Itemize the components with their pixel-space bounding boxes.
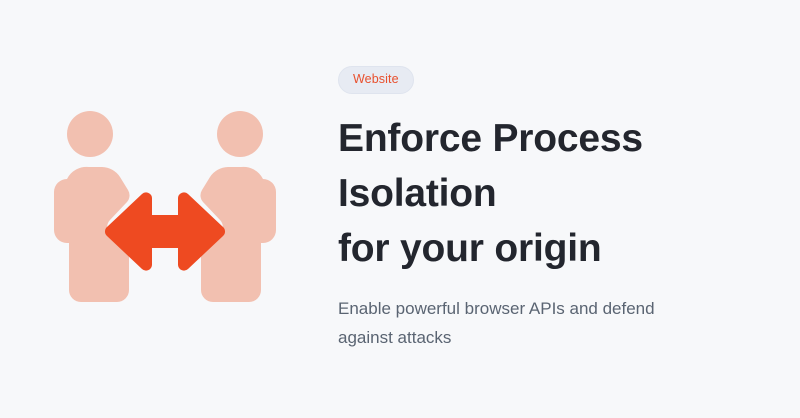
page-title: Enforce Process Isolation for your origi… [338,111,643,276]
person-right-icon [200,111,276,302]
hero-banner: Website Enforce Process Isolation for yo… [0,0,800,418]
page-subtitle: Enable powerful browser APIs and defend … [338,294,655,352]
person-right-head-icon [217,111,263,157]
hero-content: Website Enforce Process Isolation for yo… [330,66,800,352]
status-badge: Website [338,66,414,94]
person-left-icon [54,111,130,302]
process-isolation-illustration [50,104,280,314]
illustration-container [0,0,330,418]
person-left-head-icon [67,111,113,157]
